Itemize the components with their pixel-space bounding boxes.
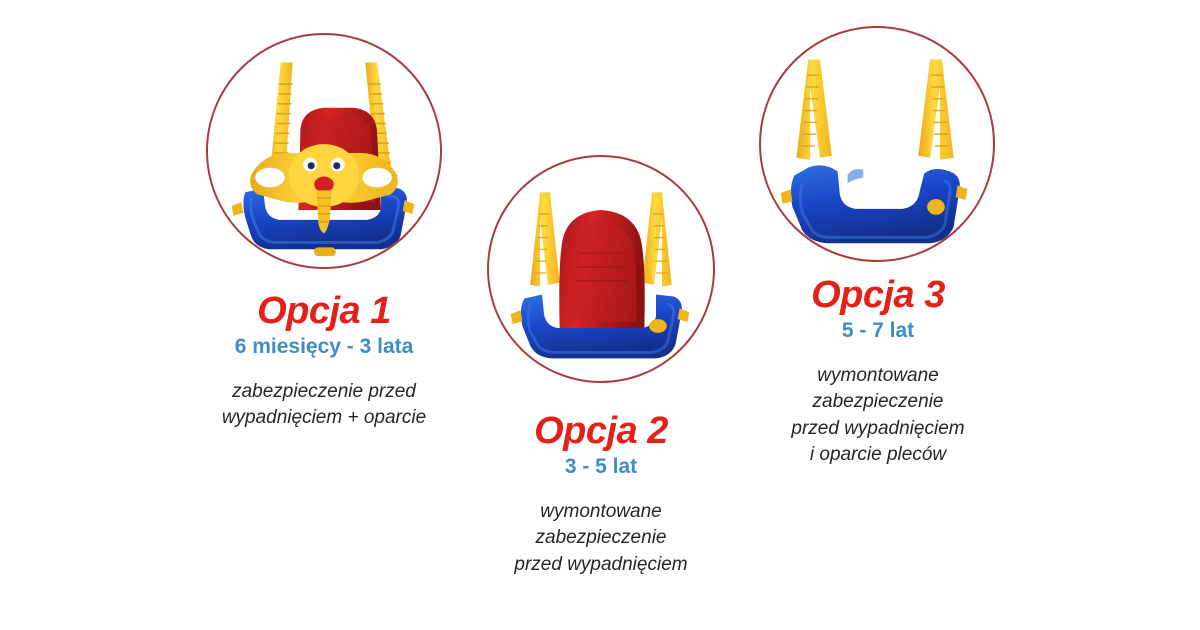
option-3-description-line: zabezpieczenie xyxy=(732,389,1024,415)
option-3-description: wymontowane zabezpieczenie przed wypadni… xyxy=(732,363,1024,468)
option-3-description-line: i oparcie pleców xyxy=(732,442,1024,468)
option-3-text: Opcja 3 5 - 7 lat wymontowane zabezpiecz… xyxy=(732,276,1024,468)
right-rope-icon xyxy=(642,192,671,286)
option-3-age: 5 - 7 lat xyxy=(732,315,1024,347)
option-1-age: 6 miesięcy - 3 lata xyxy=(178,331,470,363)
option-1-title: Opcja 1 xyxy=(178,292,470,331)
red-backrest xyxy=(559,210,644,332)
infographic-canvas: Opcja 1 6 miesięcy - 3 lata zabezpieczen… xyxy=(0,0,1200,630)
product-photo-circle-1 xyxy=(206,33,442,269)
product-photo-circle-2 xyxy=(487,155,715,383)
product-photo-circle-3 xyxy=(759,26,995,262)
blue-seat xyxy=(781,165,968,243)
left-rope-icon xyxy=(530,192,559,286)
right-rope-icon xyxy=(918,59,953,159)
swing-illustration-1 xyxy=(208,35,440,267)
swing-illustration-3 xyxy=(761,28,993,260)
option-3-title: Opcja 3 xyxy=(732,276,1024,315)
option-1-text: Opcja 1 6 miesięcy - 3 lata zabezpieczen… xyxy=(178,292,470,432)
option-1-description: zabezpieczenie przed wypadnięciem + opar… xyxy=(178,379,470,431)
option-2-age: 3 - 5 lat xyxy=(455,451,747,483)
option-2-description: wymontowane zabezpieczenie przed wypadni… xyxy=(455,499,747,578)
option-1-description-line: zabezpieczenie przed xyxy=(178,379,470,405)
option-1-description-line: wypadnięciem + oparcie xyxy=(178,405,470,431)
option-2-description-line: zabezpieczenie xyxy=(455,525,747,551)
left-rope-icon xyxy=(796,59,831,159)
option-2-title: Opcja 2 xyxy=(455,412,747,451)
option-2-text: Opcja 2 3 - 5 lat wymontowane zabezpiecz… xyxy=(455,412,747,578)
swing-illustration-2 xyxy=(489,157,713,381)
option-3-description-line: wymontowane xyxy=(732,363,1024,389)
option-3-description-line: przed wypadnięciem xyxy=(732,416,1024,442)
option-2-description-line: przed wypadnięciem xyxy=(455,552,747,578)
option-2-description-line: wymontowane xyxy=(455,499,747,525)
